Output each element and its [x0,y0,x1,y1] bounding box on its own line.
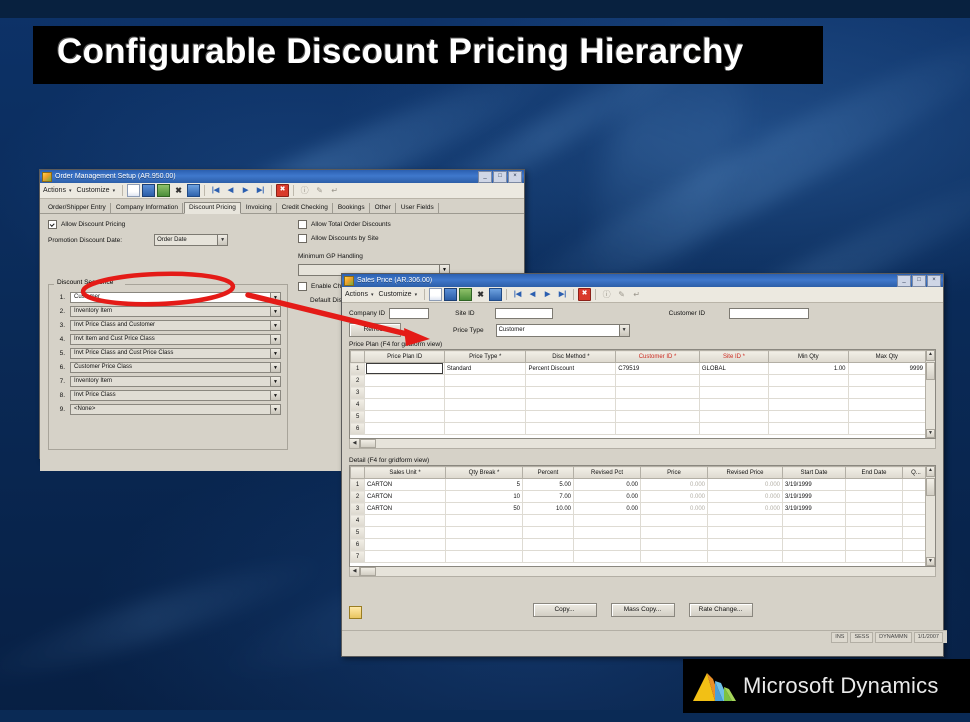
cell-end-date[interactable] [846,479,903,491]
grid-price-plan[interactable]: Price Plan IDPrice Type *Disc Method *Cu… [349,349,936,439]
cell-price[interactable]: 0.000 [641,479,708,491]
cell-disc-method[interactable] [526,411,616,423]
table-row[interactable]: 1StandardPercent DiscountC79519GLOBAL1.0… [351,363,926,375]
row-header-corner [351,467,365,479]
sales-price-button-row[interactable]: Copy... Mass Copy... Rate Change... [342,603,943,617]
chevron-down-icon[interactable]: ▾ [69,188,72,194]
chevron-down-icon[interactable]: ▼ [270,391,280,400]
previous-record-icon[interactable]: ◀ [526,288,539,301]
cell-sales-unit[interactable] [365,539,446,551]
toolbar-separator [573,289,574,300]
mass-copy-button[interactable]: Mass Copy... [611,603,675,617]
discount-sequence-row[interactable]: 3.Invt Price Class and Customer▼ [53,320,281,331]
tab-discount-pricing[interactable]: Discount Pricing [184,202,241,214]
cell-disc-method[interactable] [526,423,616,435]
cell-revised-price[interactable] [708,539,783,551]
sequence-select-7[interactable]: Inventory Item▼ [70,376,281,387]
sequence-select-5[interactable]: Invt Price Class and Cust Price Class▼ [70,348,281,359]
maximize-icon[interactable]: □ [493,171,507,183]
cell-min-qty[interactable] [769,387,848,399]
group-discount-sequence: Discount Sequence 1.Customer▼2.Inventory… [48,284,288,450]
cell-customer-id[interactable] [616,375,700,387]
scroll-thumb[interactable] [360,439,376,448]
price-type-select[interactable]: Customer ▼ [496,324,630,337]
cancel-icon[interactable]: ✖ [578,288,591,301]
cell-end-date[interactable] [846,551,903,563]
cell-customer-id[interactable] [616,387,700,399]
cell-end-date[interactable] [846,527,903,539]
delete-icon[interactable]: ✖ [474,288,487,301]
cell-end-date[interactable] [846,539,903,551]
toolbar-separator [204,185,205,196]
notes-icon[interactable]: ✎ [615,288,628,301]
cell-start-date[interactable]: 3/19/1999 [783,491,846,503]
label-price-type: Price Type [453,327,484,334]
cell-sales-unit[interactable] [365,515,446,527]
finish-icon[interactable]: ↵ [630,288,643,301]
cell-price-plan-id[interactable] [365,363,444,375]
window-buttons[interactable]: _ □ × [478,171,522,183]
column-header[interactable]: Min Qty [769,351,848,363]
rate-change-button[interactable]: Rate Change... [689,603,753,617]
customer-id-input[interactable] [729,308,809,319]
sequence-number: 7. [53,378,65,385]
checkbox-icon[interactable] [298,220,307,229]
sequence-value: <None> [74,406,95,412]
maximize-icon[interactable]: □ [912,275,926,287]
cell-price-plan-id[interactable] [365,387,444,399]
sequence-number: 6. [53,364,65,371]
chevron-down-icon[interactable]: ▼ [270,349,280,358]
chevron-down-icon[interactable]: ▾ [113,188,116,194]
slide-top-bar [0,0,970,18]
cell-percent[interactable]: 10.00 [523,503,574,515]
sales-price-action-row: Refresh Price Type Customer ▼ [349,323,936,337]
table-row[interactable]: 3 [351,387,926,399]
tab-invoicing[interactable]: Invoicing [242,203,277,213]
cell-site-id[interactable] [699,387,768,399]
cell-start-date[interactable] [783,527,846,539]
row-number[interactable]: 7 [351,551,365,563]
cell-percent[interactable] [523,515,574,527]
column-header[interactable]: Max Qty [848,351,925,363]
menu-customize[interactable]: Customize [378,291,411,298]
cell-sales-unit[interactable]: CARTON [365,479,446,491]
cell-qty-break[interactable] [446,551,523,563]
discount-sequence-row[interactable]: 9.<None>▼ [53,404,281,415]
table-row[interactable]: 6 [351,423,926,435]
sequence-number: 1. [53,294,65,301]
column-header[interactable]: Site ID * [699,351,768,363]
new-icon[interactable] [429,288,442,301]
cell-price-type[interactable]: Standard [444,363,526,375]
table-row[interactable]: 2CARTON107.000.000.0000.0003/19/1999 [351,491,927,503]
cell-price[interactable] [641,551,708,563]
cell-price-type[interactable] [444,375,526,387]
tabstrip-order-management-setup[interactable]: Order/Shipper EntryCompany InformationDi… [40,199,524,214]
cell-revised-price[interactable]: 0.000 [708,479,783,491]
sequence-select-6[interactable]: Customer Price Class▼ [70,362,281,373]
cell-qty-break[interactable] [446,527,523,539]
cell-disc-method[interactable] [526,399,616,411]
tab-company-information[interactable]: Company Information [112,203,183,213]
menu-actions[interactable]: Actions [345,291,368,298]
previous-record-icon[interactable]: ◀ [224,184,237,197]
save-icon[interactable] [444,288,457,301]
cell-max-qty[interactable] [848,375,925,387]
checkbox-icon[interactable] [48,220,57,229]
chevron-down-icon[interactable]: ▼ [270,377,280,386]
window-buttons[interactable]: _ □ × [897,275,941,287]
chevron-down-icon[interactable]: ▼ [270,293,280,302]
detail-table[interactable]: Sales Unit *Qty Break *PercentRevised Pc… [350,466,926,563]
checkbox-label: Allow Discount Pricing [61,221,125,228]
caption-detail-grid: Detail (F4 for gridform view) [349,457,936,464]
toolbar-separator [595,289,596,300]
cell-revised-pct[interactable] [574,515,641,527]
cell-revised-pct[interactable] [574,527,641,539]
sequence-select-3[interactable]: Invt Price Class and Customer▼ [70,320,281,331]
cell-start-date[interactable] [783,551,846,563]
save-exit-icon[interactable] [157,184,170,197]
discount-sequence-row[interactable]: 8.Invt Price Class▼ [53,390,281,401]
close-icon[interactable]: × [508,171,522,183]
checkbox-allow-total-order-discounts[interactable]: Allow Total Order Discounts [298,220,516,229]
discount-sequence-row[interactable]: 6.Customer Price Class▼ [53,362,281,373]
column-header[interactable]: Q... [903,467,927,479]
checkbox-label: Allow Discounts by Site [311,235,379,242]
detail-horizontal-scrollbar[interactable]: ◀ [349,567,936,577]
cell-min-qty[interactable] [769,423,848,435]
cell-price[interactable] [641,539,708,551]
column-header[interactable]: Qty Break * [446,467,523,479]
sequence-number: 2. [53,308,65,315]
cell-q[interactable] [903,491,927,503]
chevron-down-icon[interactable]: ▼ [270,307,280,316]
sequence-value: Customer [74,294,100,300]
cancel-icon[interactable]: ✖ [276,184,289,197]
cell-revised-price[interactable] [708,551,783,563]
cell-disc-method[interactable] [526,387,616,399]
table-row[interactable]: 4 [351,515,927,527]
new-icon[interactable] [127,184,140,197]
table-row[interactable]: 2 [351,375,926,387]
sequence-select-4[interactable]: Invt Item and Cust Price Class▼ [70,334,281,345]
notes-icon[interactable]: ✎ [313,184,326,197]
group-border [125,284,287,285]
cell-percent[interactable] [523,539,574,551]
cell-percent[interactable]: 5.00 [523,479,574,491]
checkbox-icon[interactable] [298,282,307,291]
help-icon[interactable]: ⓘ [298,184,311,197]
column-header[interactable]: Revised Pct [574,467,641,479]
finish-icon[interactable]: ↵ [328,184,341,197]
column-header[interactable]: Sales Unit * [365,467,446,479]
scroll-down-icon[interactable]: ▼ [926,429,935,438]
cell-revised-price[interactable]: 0.000 [708,491,783,503]
scroll-thumb[interactable] [360,567,376,576]
column-header[interactable]: Percent [523,467,574,479]
cell-max-qty[interactable] [848,411,925,423]
toolbar-sales-price[interactable]: Actions ▾ Customize ▾ ✖ |◀ ◀ ▶ ▶| ✖ ⓘ ✎ … [342,287,943,303]
scroll-down-icon[interactable]: ▼ [926,557,935,566]
cell-min-qty[interactable] [769,399,848,411]
chevron-down-icon[interactable]: ▼ [270,405,280,414]
cell-max-qty[interactable] [848,399,925,411]
cell-price-plan-id[interactable] [365,423,444,435]
cell-qty-break[interactable]: 10 [446,491,523,503]
table-row[interactable]: 1CARTON55.000.000.0000.0003/19/1999 [351,479,927,491]
cell-revised-pct[interactable]: 0.00 [574,503,641,515]
row-number[interactable]: 5 [351,411,365,423]
scroll-left-icon[interactable]: ◀ [350,439,360,448]
vertical-scrollbar[interactable]: ▲ ▼ [925,350,935,438]
sequence-select-8[interactable]: Invt Price Class▼ [70,390,281,401]
cell-qty-break[interactable] [446,539,523,551]
last-record-icon[interactable]: ▶| [556,288,569,301]
cell-revised-pct[interactable] [574,551,641,563]
table-row[interactable]: 5 [351,527,927,539]
cell-sales-unit[interactable]: CARTON [365,491,446,503]
cell-q[interactable] [903,539,927,551]
row-number[interactable]: 4 [351,515,365,527]
chevron-down-icon[interactable]: ▼ [270,335,280,344]
scroll-thumb[interactable] [926,478,935,496]
row-number[interactable]: 4 [351,399,365,411]
cell-end-date[interactable] [846,515,903,527]
table-row[interactable]: 7 [351,551,927,563]
cell-max-qty[interactable] [848,387,925,399]
column-header[interactable]: Start Date [783,467,846,479]
cell-customer-id[interactable] [616,399,700,411]
cell-price-type[interactable] [444,411,526,423]
company-id-input[interactable] [389,308,429,319]
app-icon [42,172,52,182]
site-id-input[interactable] [495,308,553,319]
cell-start-date[interactable] [783,539,846,551]
selected-cell[interactable] [367,364,441,373]
cell-price-type[interactable] [444,423,526,435]
row-number[interactable]: 3 [351,503,365,515]
cell-customer-id[interactable] [616,423,700,435]
tab-bookings[interactable]: Bookings [334,203,370,213]
table-row[interactable]: 3CARTON5010.000.000.0000.0003/19/1999 [351,503,927,515]
cell-price-plan-id[interactable] [365,411,444,423]
cell-sales-unit[interactable] [365,527,446,539]
scroll-thumb[interactable] [926,362,935,380]
cell-revised-pct[interactable] [574,539,641,551]
sequence-value: Invt Item and Cust Price Class [74,336,155,342]
column-header[interactable]: Revised Price [708,467,783,479]
row-number[interactable]: 2 [351,491,365,503]
column-header[interactable]: Price Plan ID [365,351,444,363]
cell-start-date[interactable] [783,515,846,527]
cell-revised-pct[interactable]: 0.00 [574,479,641,491]
discount-sequence-row[interactable]: 7.Inventory Item▼ [53,376,281,387]
sequence-select-9[interactable]: <None>▼ [70,404,281,415]
cell-revised-pct[interactable]: 0.00 [574,491,641,503]
discount-sequence-row[interactable]: 1.Customer▼ [53,292,281,303]
menu-actions[interactable]: Actions [43,187,66,194]
sequence-select-2[interactable]: Inventory Item▼ [70,306,281,317]
cell-q[interactable] [903,515,927,527]
window-sales-price[interactable]: Sales Price (AR.306.00) _ □ × Actions ▾ … [341,273,944,657]
cell-site-id[interactable]: GLOBAL [699,363,768,375]
cell-site-id[interactable] [699,375,768,387]
chevron-down-icon[interactable]: ▼ [217,235,227,245]
cell-max-qty[interactable] [848,423,925,435]
sequence-value: Invt Price Class and Customer [74,322,155,328]
titlebar-order-management-setup[interactable]: Order Management Setup (AR.950.00) _ □ × [40,170,524,183]
cell-q[interactable] [903,479,927,491]
chevron-down-icon[interactable]: ▼ [270,321,280,330]
cell-q[interactable] [903,527,927,539]
grid-detail[interactable]: Sales Unit *Qty Break *PercentRevised Pc… [349,465,936,567]
cell-end-date[interactable] [846,491,903,503]
discount-sequence-list[interactable]: 1.Customer▼2.Inventory Item▼3.Invt Price… [49,284,287,415]
cell-revised-price[interactable]: 0.000 [708,503,783,515]
cell-price-type[interactable] [444,387,526,399]
vertical-scrollbar[interactable]: ▲ ▼ [925,466,935,566]
last-record-icon[interactable]: ▶| [254,184,267,197]
tab-other[interactable]: Other [371,203,396,213]
toolbar-separator [506,289,507,300]
cell-q[interactable] [903,551,927,563]
cell-revised-price[interactable] [708,515,783,527]
chevron-down-icon[interactable]: ▾ [415,292,418,298]
table-row[interactable]: 5 [351,411,926,423]
cell-customer-id[interactable] [616,411,700,423]
cell-start-date[interactable]: 3/19/1999 [783,479,846,491]
cell-q[interactable] [903,503,927,515]
cell-qty-break[interactable] [446,515,523,527]
column-header[interactable]: Price Type * [444,351,526,363]
discount-sequence-row[interactable]: 2.Inventory Item▼ [53,306,281,317]
tab-order-shipper-entry[interactable]: Order/Shipper Entry [44,203,111,213]
checkbox-icon[interactable] [298,234,307,243]
refresh-button[interactable]: Refresh [349,323,401,337]
sequence-select-1[interactable]: Customer▼ [70,292,281,303]
app-icon [344,276,354,286]
cell-revised-price[interactable] [708,527,783,539]
column-header[interactable]: Disc Method * [526,351,616,363]
toolbar-order-management-setup[interactable]: Actions ▾ Customize ▾ ✖ |◀ ◀ ▶ ▶| ✖ ⓘ ✎ … [40,183,524,199]
price-plan-table[interactable]: Price Plan IDPrice Type *Disc Method *Cu… [350,350,926,435]
cell-percent[interactable] [523,551,574,563]
cell-percent[interactable] [523,527,574,539]
cell-min-qty[interactable]: 1.00 [769,363,848,375]
minimize-icon[interactable]: _ [897,275,911,287]
cell-end-date[interactable] [846,503,903,515]
scroll-left-icon[interactable]: ◀ [350,567,360,576]
close-icon[interactable]: × [927,275,941,287]
cell-disc-method[interactable] [526,375,616,387]
properties-icon[interactable] [489,288,502,301]
column-header[interactable]: Price [641,467,708,479]
cell-price[interactable]: 0.000 [641,503,708,515]
table-row[interactable]: 6 [351,539,927,551]
first-record-icon[interactable]: |◀ [511,288,524,301]
cell-price[interactable]: 0.000 [641,491,708,503]
sequence-number: 8. [53,392,65,399]
discount-sequence-row[interactable]: 5.Invt Price Class and Cust Price Class▼ [53,348,281,359]
cell-price[interactable] [641,515,708,527]
cell-site-id[interactable] [699,399,768,411]
row-number[interactable]: 2 [351,375,365,387]
scroll-up-icon[interactable]: ▲ [926,466,935,477]
cell-qty-break[interactable]: 5 [446,479,523,491]
cell-sales-unit[interactable] [365,551,446,563]
page-title: Configurable Discount Pricing Hierarchy [57,32,744,72]
cell-min-qty[interactable] [769,375,848,387]
column-header[interactable]: End Date [846,467,903,479]
cell-sales-unit[interactable]: CARTON [365,503,446,515]
properties-icon[interactable] [187,184,200,197]
cell-price-plan-id[interactable] [365,399,444,411]
checkbox-allow-discounts-by-site[interactable]: Allow Discounts by Site [298,234,516,243]
discount-sequence-row[interactable]: 4.Invt Item and Cust Price Class▼ [53,334,281,345]
next-record-icon[interactable]: ▶ [239,184,252,197]
promotion-discount-date-select[interactable]: Order Date ▼ [154,234,228,246]
cell-site-id[interactable] [699,411,768,423]
tab-user-fields[interactable]: User Fields [397,203,439,213]
cell-qty-break[interactable]: 50 [446,503,523,515]
row-number[interactable]: 3 [351,387,365,399]
row-number[interactable]: 1 [351,479,365,491]
label-company-id: Company ID [349,310,385,317]
chevron-down-icon[interactable]: ▼ [619,325,629,336]
copy-button[interactable]: Copy... [533,603,597,617]
minimize-icon[interactable]: _ [478,171,492,183]
table-row[interactable]: 4 [351,399,926,411]
chevron-down-icon[interactable]: ▾ [371,292,374,298]
price-plan-horizontal-scrollbar[interactable]: ◀ [349,439,936,449]
chevron-down-icon[interactable]: ▼ [270,363,280,372]
delete-icon[interactable]: ✖ [172,184,185,197]
status-panel: INS [831,632,848,643]
next-record-icon[interactable]: ▶ [541,288,554,301]
titlebar-sales-price[interactable]: Sales Price (AR.306.00) _ □ × [342,274,943,287]
row-number[interactable]: 6 [351,423,365,435]
cell-price-plan-id[interactable] [365,375,444,387]
cell-max-qty[interactable]: 9999 [848,363,925,375]
tab-credit-checking[interactable]: Credit Checking [278,203,333,213]
column-header[interactable]: Customer ID * [616,351,700,363]
cell-percent[interactable]: 7.00 [523,491,574,503]
toolbar-separator [424,289,425,300]
cell-price-type[interactable] [444,399,526,411]
cell-disc-method[interactable]: Percent Discount [526,363,616,375]
label-site-id: Site ID [455,310,475,317]
first-record-icon[interactable]: |◀ [209,184,222,197]
microsoft-dynamics-logo: Microsoft Dynamics [683,659,970,713]
cell-start-date[interactable]: 3/19/1999 [783,503,846,515]
menu-customize[interactable]: Customize [76,187,109,194]
row-number[interactable]: 1 [351,363,365,375]
row-number[interactable]: 5 [351,527,365,539]
cell-site-id[interactable] [699,423,768,435]
cell-customer-id[interactable]: C79519 [616,363,700,375]
cell-price[interactable] [641,527,708,539]
status-panel: SESS [850,632,873,643]
help-icon[interactable]: ⓘ [600,288,613,301]
scroll-up-icon[interactable]: ▲ [926,350,935,361]
cell-min-qty[interactable] [769,411,848,423]
save-exit-icon[interactable] [459,288,472,301]
checkbox-label: Allow Total Order Discounts [311,221,391,228]
row-number[interactable]: 6 [351,539,365,551]
save-icon[interactable] [142,184,155,197]
